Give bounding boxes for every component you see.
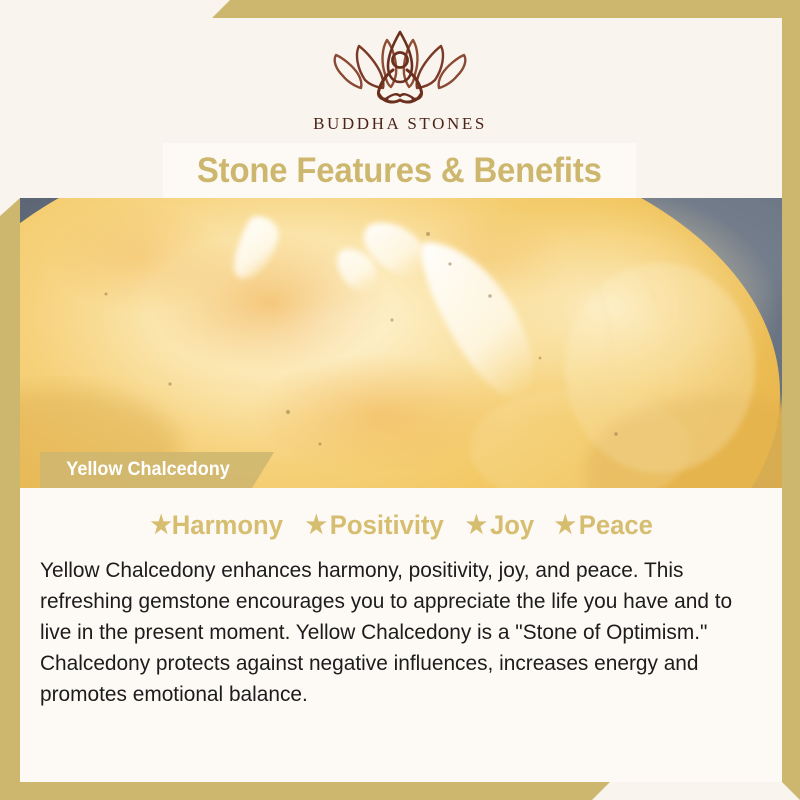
star-icon: ★ (150, 513, 171, 538)
content-panel: ★ Harmony ★ Positivity ★ Joy ★ Peace Yel… (20, 488, 782, 782)
page-title: Stone Features & Benefits (197, 151, 602, 191)
gold-band-bottom (0, 782, 610, 800)
stone-name-badge: Yellow Chalcedony (40, 452, 274, 488)
lotus-meditation-figure-icon (325, 24, 475, 108)
keyword-item-peace: ★ Peace (554, 510, 652, 541)
star-icon: ★ (466, 513, 487, 538)
star-icon: ★ (554, 513, 575, 538)
gold-band-top (212, 0, 800, 18)
stone-description: Yellow Chalcedony enhances harmony, posi… (40, 555, 740, 710)
stone-photo: Yellow Chalcedony (20, 198, 782, 488)
keyword-item-joy: ★ Joy (466, 510, 534, 541)
brand-header: BUDDHA STONES (0, 24, 800, 134)
star-icon: ★ (306, 513, 327, 538)
keyword-label: Positivity (330, 510, 444, 541)
keyword-label: Peace (578, 510, 652, 541)
brand-name: BUDDHA STONES (0, 114, 800, 134)
stone-name-text: Yellow Chalcedony (66, 459, 230, 481)
keyword-label: Harmony (172, 510, 283, 541)
keyword-label: Joy (490, 510, 534, 541)
infographic-card: BUDDHA STONES Stone Features & Benefits (0, 0, 800, 800)
stone-photo-image (20, 198, 782, 488)
keyword-item-positivity: ★ Positivity (306, 510, 444, 541)
keyword-list: ★ Harmony ★ Positivity ★ Joy ★ Peace (20, 510, 782, 541)
title-banner: Stone Features & Benefits (163, 143, 636, 198)
keyword-item-harmony: ★ Harmony (150, 510, 282, 541)
gold-band-left (0, 198, 20, 800)
